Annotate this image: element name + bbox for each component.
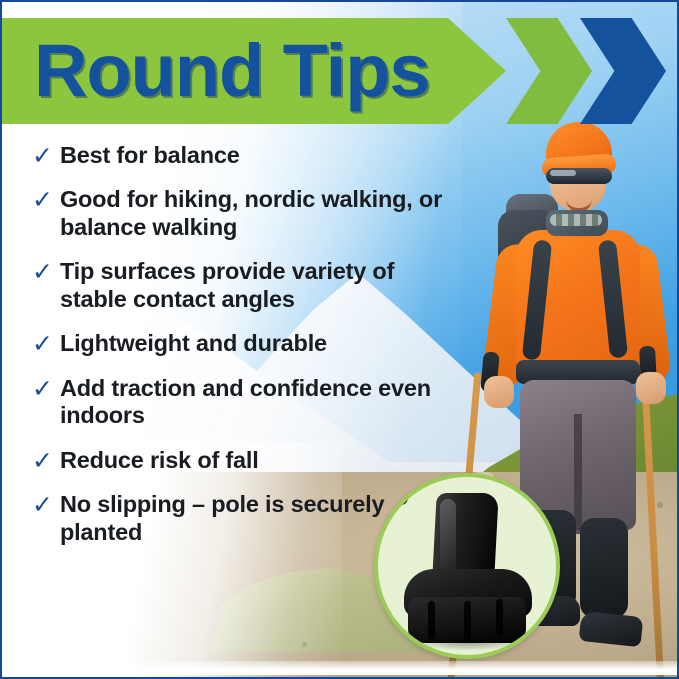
list-item: ✓ Add traction and confidence even indoo… — [32, 375, 452, 430]
bottom-white-strip — [4, 661, 679, 675]
product-infographic: Round Tips ✓ Best for balance ✓ Good for… — [0, 0, 679, 679]
list-item: ✓ Best for balance — [32, 142, 452, 169]
list-item-label: Best for balance — [60, 142, 240, 169]
hiker-leg-seam — [574, 414, 582, 534]
check-icon: ✓ — [32, 258, 53, 285]
list-item-label: Reduce risk of fall — [60, 447, 259, 474]
tip-lip-right — [378, 491, 408, 505]
check-icon: ✓ — [32, 447, 53, 474]
product-inset-circle — [374, 473, 560, 659]
list-item-label: Add traction and confidence even indoors — [60, 375, 452, 430]
check-icon: ✓ — [32, 330, 53, 357]
check-icon: ✓ — [32, 142, 53, 169]
tip-lip-left — [378, 477, 406, 491]
hiker-gaiter-right — [580, 518, 628, 618]
hiker-boot-right — [579, 611, 644, 647]
list-item-label: Lightweight and durable — [60, 330, 327, 357]
check-icon: ✓ — [32, 375, 53, 402]
list-item: ✓ Good for hiking, nordic walking, or ba… — [32, 186, 452, 241]
rubber-tip-image — [378, 477, 556, 655]
list-item: ✓ Reduce risk of fall — [32, 447, 452, 474]
check-icon: ✓ — [32, 186, 53, 213]
list-item-label: Tip surfaces provide variety of stable c… — [60, 258, 452, 313]
neck-gaiter-pattern — [550, 214, 602, 226]
list-item: ✓ Lightweight and durable — [32, 330, 452, 357]
chevron-green-icon — [506, 18, 592, 124]
chevron-blue-icon — [580, 18, 666, 124]
check-icon: ✓ — [32, 491, 53, 518]
hiker-hand-left — [484, 376, 514, 408]
list-item: ✓ Tip surfaces provide variety of stable… — [32, 258, 452, 313]
tip-shadow — [412, 633, 524, 651]
list-item-label: Good for hiking, nordic walking, or bala… — [60, 186, 452, 241]
page-title: Round Tips — [34, 32, 430, 110]
sunglasses-highlight — [550, 170, 576, 176]
hiker-hand-right — [636, 372, 666, 404]
trekking-pole-right — [641, 366, 667, 679]
header-banner: Round Tips — [2, 18, 679, 124]
tip-groove — [496, 599, 503, 635]
